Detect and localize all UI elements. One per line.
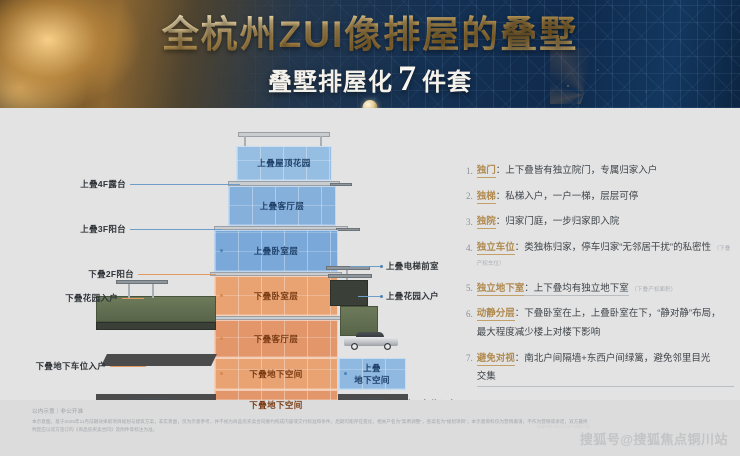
block-label: 上叠客厅层: [260, 201, 305, 212]
feature-body: 独院：归家门庭，一步归家即入院: [477, 215, 734, 230]
block-label: 上叠卧室层: [254, 246, 299, 257]
roof-post-right: [320, 136, 322, 146]
block-upper-basement: 上叠 地下空间: [338, 358, 406, 390]
leader-line-upper-4f-terrace: [130, 184, 240, 185]
feature-keyword: 动静分层: [477, 308, 515, 321]
block-connector-dot-1: [220, 249, 223, 252]
roof-post-left: [244, 136, 246, 146]
feature-text: ：归家门庭，一步归家即入院: [496, 216, 620, 227]
banner-gem-icon: [363, 100, 378, 108]
left-label-lower-parking-entry: 下叠地下车位入户: [14, 360, 106, 372]
feature-item-4: 4. 独立车位：类独栋归家，停车归家“无邻居干扰”的私密性 （下叠产权车位）: [466, 241, 734, 270]
garden-canopy-left: [116, 280, 168, 284]
feature-keyword: 独立车位: [477, 242, 515, 255]
feature-text: ：类独栋归家，停车归家“无邻居干扰”的私密性: [515, 242, 711, 253]
block-label: 上叠屋顶花园: [257, 158, 310, 169]
left-label-upper-4f-terrace: 上叠4F露台: [46, 178, 126, 190]
feature-text: ：上下叠皆有独立院门，专属归家入户: [496, 165, 658, 176]
watermark: 搜狐号@搜狐焦点铜川站: [580, 429, 728, 448]
banner-title: 全杭州ZUI像排屋的叠墅: [0, 13, 740, 57]
feature-body: 独门：上下叠皆有独立院门，专属归家入户: [477, 164, 734, 179]
banner-subtitle: 叠墅排屋化 7 件套: [0, 62, 740, 97]
banner-subtitle-post: 件套: [422, 62, 472, 97]
feature-item-6: 6. 动静分层：下叠卧室在上，上叠卧室在下，“静对静”布局， 最大程度减少楼上对…: [466, 307, 734, 340]
elevator-lobby-box: [330, 280, 368, 306]
feature-number: 6.: [466, 307, 473, 321]
feature-continuation: 交集: [477, 370, 734, 387]
feature-number: 1.: [466, 164, 473, 178]
garden-entry-shade-right: [328, 274, 372, 278]
leader-line-lower-parking-entry: [110, 366, 146, 367]
feature-item-3: 3. 独院：归家门庭，一步归家即入院: [466, 215, 734, 230]
feature-text: ：南北户间隔墙+东西户间绿篱，避免邻里目光: [515, 353, 711, 364]
feature-body: 独梯：私梯入户，一户一梯，层层可停: [477, 190, 734, 205]
feature-keyword: 独院: [477, 216, 496, 229]
feature-keyword: 避免对视: [477, 353, 515, 366]
feature-number: 2.: [466, 190, 473, 204]
garden-canopy-post-left: [128, 284, 130, 298]
left-label-lower-garden-entry: 下叠花园入户: [38, 292, 118, 304]
feature-continuation: 最大程度减少楼上对楼下影响: [477, 326, 734, 341]
leader-line-upper-3f-balcony: [130, 229, 222, 230]
block-connector-dot-3: [220, 337, 223, 340]
feature-text: ：私梯入户，一户一梯，层层可停: [496, 191, 639, 202]
right-label-upper-garden-entry: 上叠花园入户: [386, 290, 439, 302]
feature-number: 7.: [466, 352, 473, 366]
block-lower-basement-upper: 下叠地下空间: [214, 358, 338, 390]
header-banner: 全杭州ZUI像排屋的叠墅 叠墅排屋化 7 件套: [0, 0, 740, 108]
block-lower-bedroom-floor: 下叠卧室层: [214, 276, 338, 316]
infographic-page: 全杭州ZUI像排屋的叠墅 叠墅排屋化 7 件套 上叠屋顶花园 上叠客厅层 上叠卧…: [0, 0, 740, 456]
block-connector-dot-4: [220, 372, 223, 375]
block-label: 下叠地下空间: [249, 400, 302, 411]
leader-line-lower-garden-entry: [122, 298, 144, 299]
feature-body: 独立车位：类独栋归家，停车归家“无邻居干扰”的私密性 （下叠产权车位）: [477, 241, 734, 270]
leader-dot-upper-garden-entry: [380, 295, 383, 298]
leader-line-upper-elevator-lobby: [350, 266, 382, 267]
garden-canopy-post-left-2: [152, 284, 154, 298]
left-label-upper-3f-balcony: 上叠3F阳台: [46, 223, 126, 235]
feature-body: 独立地下室：上下叠均有独立地下室 （下叠产权面积）: [477, 282, 734, 297]
disclaimer-body: 本示意图，基于2025年11月前期效果取项目规划与建筑方案，非实景图，仅为示意参…: [32, 418, 592, 434]
block-upper-bedroom-floor: 上叠卧室层: [214, 230, 338, 272]
block-label-line1: 上叠: [363, 363, 381, 374]
feature-number: 5.: [466, 282, 473, 296]
disclaimer-title: 以内示意｜非公开准: [32, 407, 83, 415]
banner-subtitle-number: 7: [398, 62, 417, 94]
feature-text: ：上下叠均有独立地下室: [524, 283, 629, 296]
driveway-left: [101, 354, 217, 366]
left-label-lower-2f-balcony: 下叠2F阳台: [54, 268, 134, 280]
block-connector-dot-2: [220, 294, 223, 297]
feature-item-1: 1. 独门：上下叠皆有独立院门，专属归家入户: [466, 164, 734, 179]
car-top-right-garage: [344, 330, 398, 350]
block-upper-living-floor: 上叠客厅层: [228, 186, 336, 226]
feature-body: 避免对视：南北户间隔墙+东西户间绿篱，避免邻里目光 交集: [477, 352, 734, 387]
feature-list: 1. 独门：上下叠皆有独立院门，专属归家入户 2. 独梯：私梯入户，一户一梯，层…: [466, 164, 734, 398]
terrace-eave-3f: [336, 228, 360, 231]
block-lower-living-floor: 下叠客厅层: [214, 320, 338, 358]
feature-item-5: 5. 独立地下室：上下叠均有独立地下室 （下叠产权面积）: [466, 282, 734, 297]
garden-ledge-left-shadow: [96, 322, 216, 330]
block-label: 下叠卧室层: [254, 291, 299, 302]
leader-line-upper-garden-entry: [358, 296, 382, 297]
feature-text: ：下叠卧室在上，上叠卧室在下，“静对静”布局，: [515, 308, 721, 319]
feature-keyword: 独梯: [477, 191, 496, 204]
block-upper-roof-garden: 上叠屋顶花园: [236, 146, 332, 181]
block-label: 下叠客厅层: [254, 334, 299, 345]
watermark-text: 搜狐号@搜狐焦点铜川站: [580, 429, 728, 448]
roof-slab-top: [238, 132, 330, 137]
feature-number: 3.: [466, 215, 473, 229]
feature-keyword: 独门: [477, 165, 496, 178]
banner-subtitle-pre: 叠墅排屋化: [268, 62, 393, 97]
right-label-upper-elevator-lobby: 上叠电梯前室: [386, 260, 439, 272]
block-connector-dot-6: [344, 372, 347, 375]
feature-note: （下叠产权面积）: [631, 287, 676, 293]
feature-item-7: 7. 避免对视：南北户间隔墙+东西户间绿篱，避免邻里目光 交集: [466, 352, 734, 387]
feature-keyword: 独立地下室: [477, 283, 525, 296]
feature-item-2: 2. 独梯：私梯入户，一户一梯，层层可停: [466, 190, 734, 205]
feature-number: 4.: [466, 241, 473, 255]
footer-disclaimer-bar: 以内示意｜非公开准 本示意图，基于2025年11月前期效果取项目规划与建筑方案，…: [0, 400, 740, 456]
leader-line-lower-2f-balcony: [138, 274, 216, 275]
block-label-line2: 地下空间: [354, 375, 390, 386]
leader-dot-elevator-lobby: [380, 265, 383, 268]
feature-body: 动静分层：下叠卧室在上，上叠卧室在下，“静对静”布局， 最大程度减少楼上对楼下影…: [477, 307, 734, 340]
block-label: 下叠地下空间: [249, 369, 302, 380]
